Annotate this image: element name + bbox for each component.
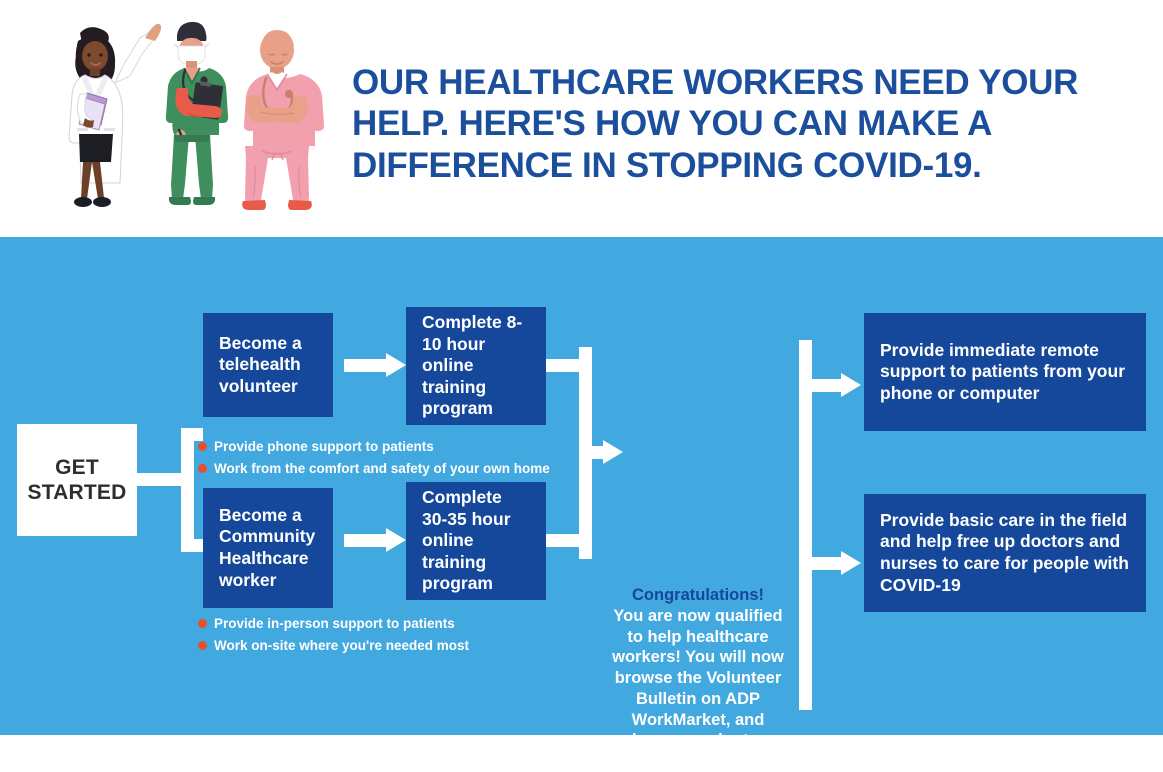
bullet-dot-icon xyxy=(198,619,207,628)
role-box-telehealth: Become a telehealth volunteer xyxy=(203,313,333,417)
arrow-to-outcome-remote-support xyxy=(799,379,861,392)
congratulations-body: You are now qualified to help healthcare… xyxy=(612,607,784,770)
get-started-line-2: STARTED xyxy=(27,480,126,505)
start-branch-bottom-stub xyxy=(181,539,203,552)
bullet-item: Provide phone support to patients xyxy=(198,436,550,458)
outcome-box-field-care: Provide basic care in the field and help… xyxy=(864,494,1146,612)
role-box-community-healthcare: Become a Community Healthcare worker xyxy=(203,488,333,608)
bullet-dot-icon xyxy=(198,641,207,650)
bullet-dot-icon xyxy=(198,442,207,451)
bullets-community-healthcare: Provide in-person support to patients Wo… xyxy=(198,613,469,657)
bullet-text: Provide in-person support to patients xyxy=(214,613,455,635)
training-box-community-healthcare: Complete 30-35 hour online training prog… xyxy=(406,482,546,600)
congratulations-heading: Congratulations! xyxy=(604,585,792,606)
arrow-telehealth-to-training xyxy=(344,359,406,372)
training-box-telehealth-label: Complete 8-10 hour online training progr… xyxy=(422,312,530,420)
outcome-box-field-care-label: Provide basic care in the field and help… xyxy=(880,510,1130,596)
bullet-item: Work from the comfort and safety of your… xyxy=(198,458,550,480)
surgeon-green-scrubs-figure xyxy=(166,22,228,205)
training-box-community-healthcare-label: Complete 30-35 hour online training prog… xyxy=(422,487,530,595)
bullet-dot-icon xyxy=(198,464,207,473)
start-connector-vertical xyxy=(181,428,194,552)
nurse-pink-scrubs-figure xyxy=(242,30,324,210)
page-title: OUR HEALTHCARE WORKERS NEED YOUR HELP. H… xyxy=(352,62,1132,186)
get-started-line-1: GET xyxy=(27,455,126,480)
healthcare-workers-illustration xyxy=(52,8,342,220)
arrow-merge-to-congratulations xyxy=(579,446,623,459)
bullet-text: Work from the comfort and safety of your… xyxy=(214,458,550,480)
bullet-text: Provide phone support to patients xyxy=(214,436,434,458)
arrow-to-outcome-field-care xyxy=(799,557,861,570)
outcome-box-remote-support-label: Provide immediate remote support to pati… xyxy=(880,340,1130,405)
doctor-white-coat-figure xyxy=(69,24,161,207)
outcome-split-vertical xyxy=(799,340,812,710)
bullet-text: Work on-site where you're needed most xyxy=(214,635,469,657)
training-box-telehealth: Complete 8-10 hour online training progr… xyxy=(406,307,546,425)
start-connector-horizontal xyxy=(137,473,187,486)
arrow-community-to-training xyxy=(344,534,406,547)
bullets-telehealth: Provide phone support to patients Work f… xyxy=(198,436,550,480)
outcome-box-remote-support: Provide immediate remote support to pati… xyxy=(864,313,1146,431)
congratulations-block: Congratulations! You are now qualified t… xyxy=(604,585,792,772)
role-box-community-healthcare-label: Become a Community Healthcare worker xyxy=(219,505,317,591)
bullet-item: Work on-site where you're needed most xyxy=(198,635,469,657)
get-started-box: GET STARTED xyxy=(17,424,137,536)
infographic-canvas: OUR HEALTHCARE WORKERS NEED YOUR HELP. H… xyxy=(0,0,1163,735)
role-box-telehealth-label: Become a telehealth volunteer xyxy=(219,333,317,398)
flow-diagram-panel: GET STARTED Become a telehealth voluntee… xyxy=(0,237,1163,735)
bullet-item: Provide in-person support to patients xyxy=(198,613,469,635)
